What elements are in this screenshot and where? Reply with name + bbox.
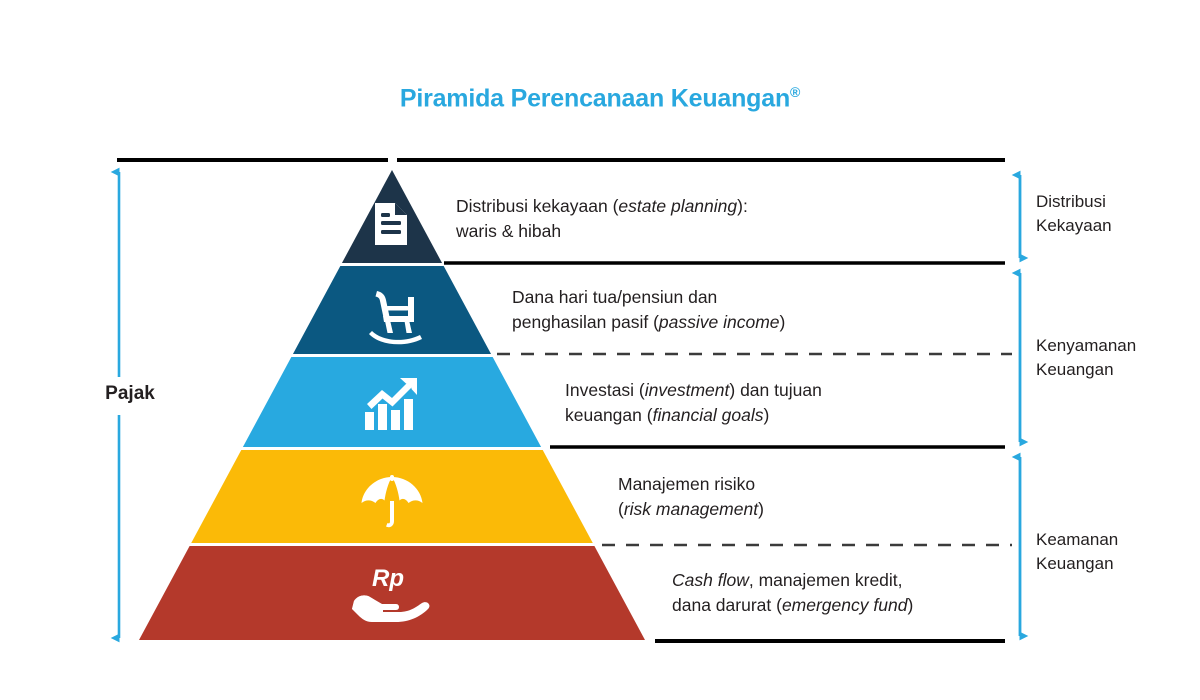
tier-5-line-1-italic: Cash flow xyxy=(672,570,749,590)
tier-description-3: Investasi (investment) dan tujuan keuang… xyxy=(565,378,822,428)
tier-description-5-line-2: dana darurat (emergency fund) xyxy=(672,593,913,618)
tier-4-line-2-post: ) xyxy=(758,499,764,519)
category-label-kenyamanan-keuangan: Kenyamanan Keuangan xyxy=(1036,334,1136,382)
category-1-line-1: Distribusi xyxy=(1036,190,1112,214)
tier-4-line-2-italic: risk management xyxy=(624,499,758,519)
category-3-line-2: Keuangan xyxy=(1036,552,1118,576)
tier-2-line-2-pre: penghasilan pasif ( xyxy=(512,312,659,332)
tier-description-4-line-2: (risk management) xyxy=(618,497,764,522)
tier-description-2: Dana hari tua/pensiun dan penghasilan pa… xyxy=(512,285,785,335)
pajak-axis-label: Pajak xyxy=(60,383,200,405)
tier-description-2-line-1: Dana hari tua/pensiun dan xyxy=(512,285,785,310)
tier-1-line-2-pre: waris & hibah xyxy=(456,221,561,241)
category-1-line-2: Kekayaan xyxy=(1036,214,1112,238)
tier-3-line-1-italic: investment xyxy=(645,380,730,400)
diagram-canvas: Piramida Perencanaan Keuangan® xyxy=(0,0,1200,700)
category-2-line-1: Kenyamanan xyxy=(1036,334,1136,358)
tier-description-2-line-2: penghasilan pasif (passive income) xyxy=(512,310,785,335)
tier-description-1-line-1: Distribusi kekayaan (estate planning): xyxy=(456,194,748,219)
category-3-line-1: Keamanan xyxy=(1036,528,1118,552)
tier-4-line-1-pre: Manajemen risiko xyxy=(618,474,755,494)
tier-3-line-2-pre: keuangan ( xyxy=(565,405,653,425)
tier-1-line-1-post: ): xyxy=(737,196,748,216)
tier-description-3-line-2: keuangan (financial goals) xyxy=(565,403,822,428)
tier-5-line-2-post: ) xyxy=(907,595,913,615)
pyramid-graphic: Rp xyxy=(0,0,1200,700)
tier-description-1-line-2: waris & hibah xyxy=(456,219,748,244)
category-2-line-2: Keuangan xyxy=(1036,358,1136,382)
tier-5-line-1-post: , manajemen kredit, xyxy=(749,570,903,590)
tier-5-line-2-italic: emergency fund xyxy=(782,595,908,615)
rupiah-symbol-label: Rp xyxy=(372,565,404,592)
tier-1-line-1-italic: estate planning xyxy=(618,196,737,216)
tier-3-line-2-italic: financial goals xyxy=(653,405,764,425)
category-label-distribusi-kekayaan: Distribusi Kekayaan xyxy=(1036,190,1112,238)
tier-2-line-1-pre: Dana hari tua/pensiun dan xyxy=(512,287,717,307)
tier-2-line-2-italic: passive income xyxy=(659,312,780,332)
tier-description-5-line-1: Cash flow, manajemen kredit, xyxy=(672,568,913,593)
category-label-keamanan-keuangan: Keamanan Keuangan xyxy=(1036,528,1118,576)
tier-1-line-1-pre: Distribusi kekayaan ( xyxy=(456,196,618,216)
tier-description-1: Distribusi kekayaan (estate planning): w… xyxy=(456,194,748,244)
tier-description-5: Cash flow, manajemen kredit, dana darura… xyxy=(672,568,913,618)
tier-5-line-2-pre: dana darurat ( xyxy=(672,595,782,615)
pyramid-band-5 xyxy=(100,546,700,642)
tier-3-line-1-pre: Investasi ( xyxy=(565,380,645,400)
tier-description-3-line-1: Investasi (investment) dan tujuan xyxy=(565,378,822,403)
tier-description-4: Manajemen risiko (risk management) xyxy=(618,472,764,522)
tier-3-line-1-post: ) dan tujuan xyxy=(729,380,821,400)
tier-2-line-2-post: ) xyxy=(780,312,786,332)
tier-description-4-line-1: Manajemen risiko xyxy=(618,472,764,497)
tier-3-line-2-post: ) xyxy=(763,405,769,425)
